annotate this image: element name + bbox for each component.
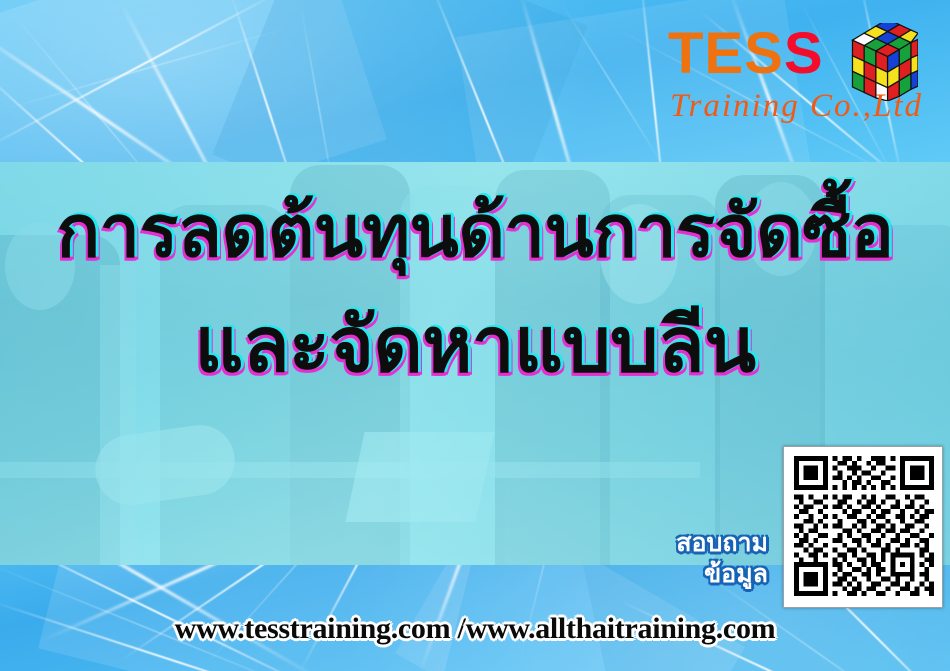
page-title-line-1: การลดต้นทุนด้านการจัดซื้อ — [0, 196, 950, 268]
qr-code-modules — [794, 456, 934, 596]
footer-url-separator: / — [458, 612, 466, 645]
poster-canvas: การลดต้นทุนด้านการจัดซื้อ และจัดหาแบบลีน… — [0, 0, 950, 671]
footer-url-primary[interactable]: www.tesstraining.com — [175, 612, 451, 645]
footer-url-spacer — [450, 612, 457, 645]
brand-tagline: Training Co.,Ltd — [670, 88, 923, 125]
brand-name-primary: TES — [668, 21, 784, 86]
brand-name-accent: S — [784, 21, 824, 86]
brand-logo[interactable]: TESS — [668, 18, 928, 143]
footer-website-urls[interactable]: www.tesstraining.com /www.allthaitrainin… — [0, 612, 950, 646]
contact-label-line-1: สอบถาม — [588, 528, 768, 559]
footer-url-secondary[interactable]: www.allthaitraining.com — [466, 612, 776, 645]
qr-code[interactable] — [783, 446, 943, 608]
contact-label-line-2: ข้อมูล — [588, 559, 768, 590]
page-title-line-2: และจัดหาแบบลีน — [0, 308, 950, 384]
contact-label: สอบถาม ข้อมูล — [588, 528, 768, 591]
brand-name: TESS — [668, 20, 824, 87]
